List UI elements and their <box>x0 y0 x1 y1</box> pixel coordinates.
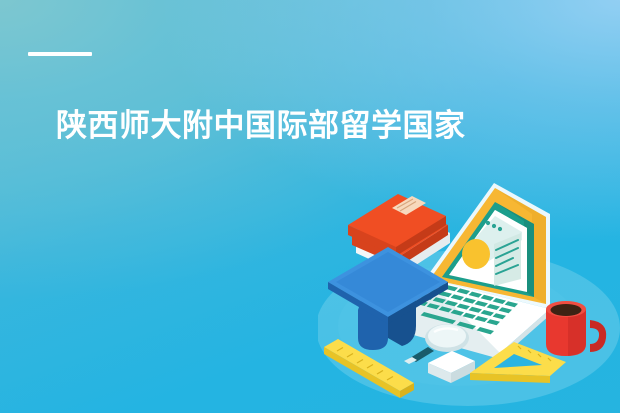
page-title: 陕西师大附中国际部留学国家 <box>56 103 576 149</box>
promo-banner: 陕西师大附中国际部留学国家 <box>0 0 620 413</box>
accent-rule-divider <box>28 52 92 56</box>
study-desk-illustration <box>318 176 620 413</box>
